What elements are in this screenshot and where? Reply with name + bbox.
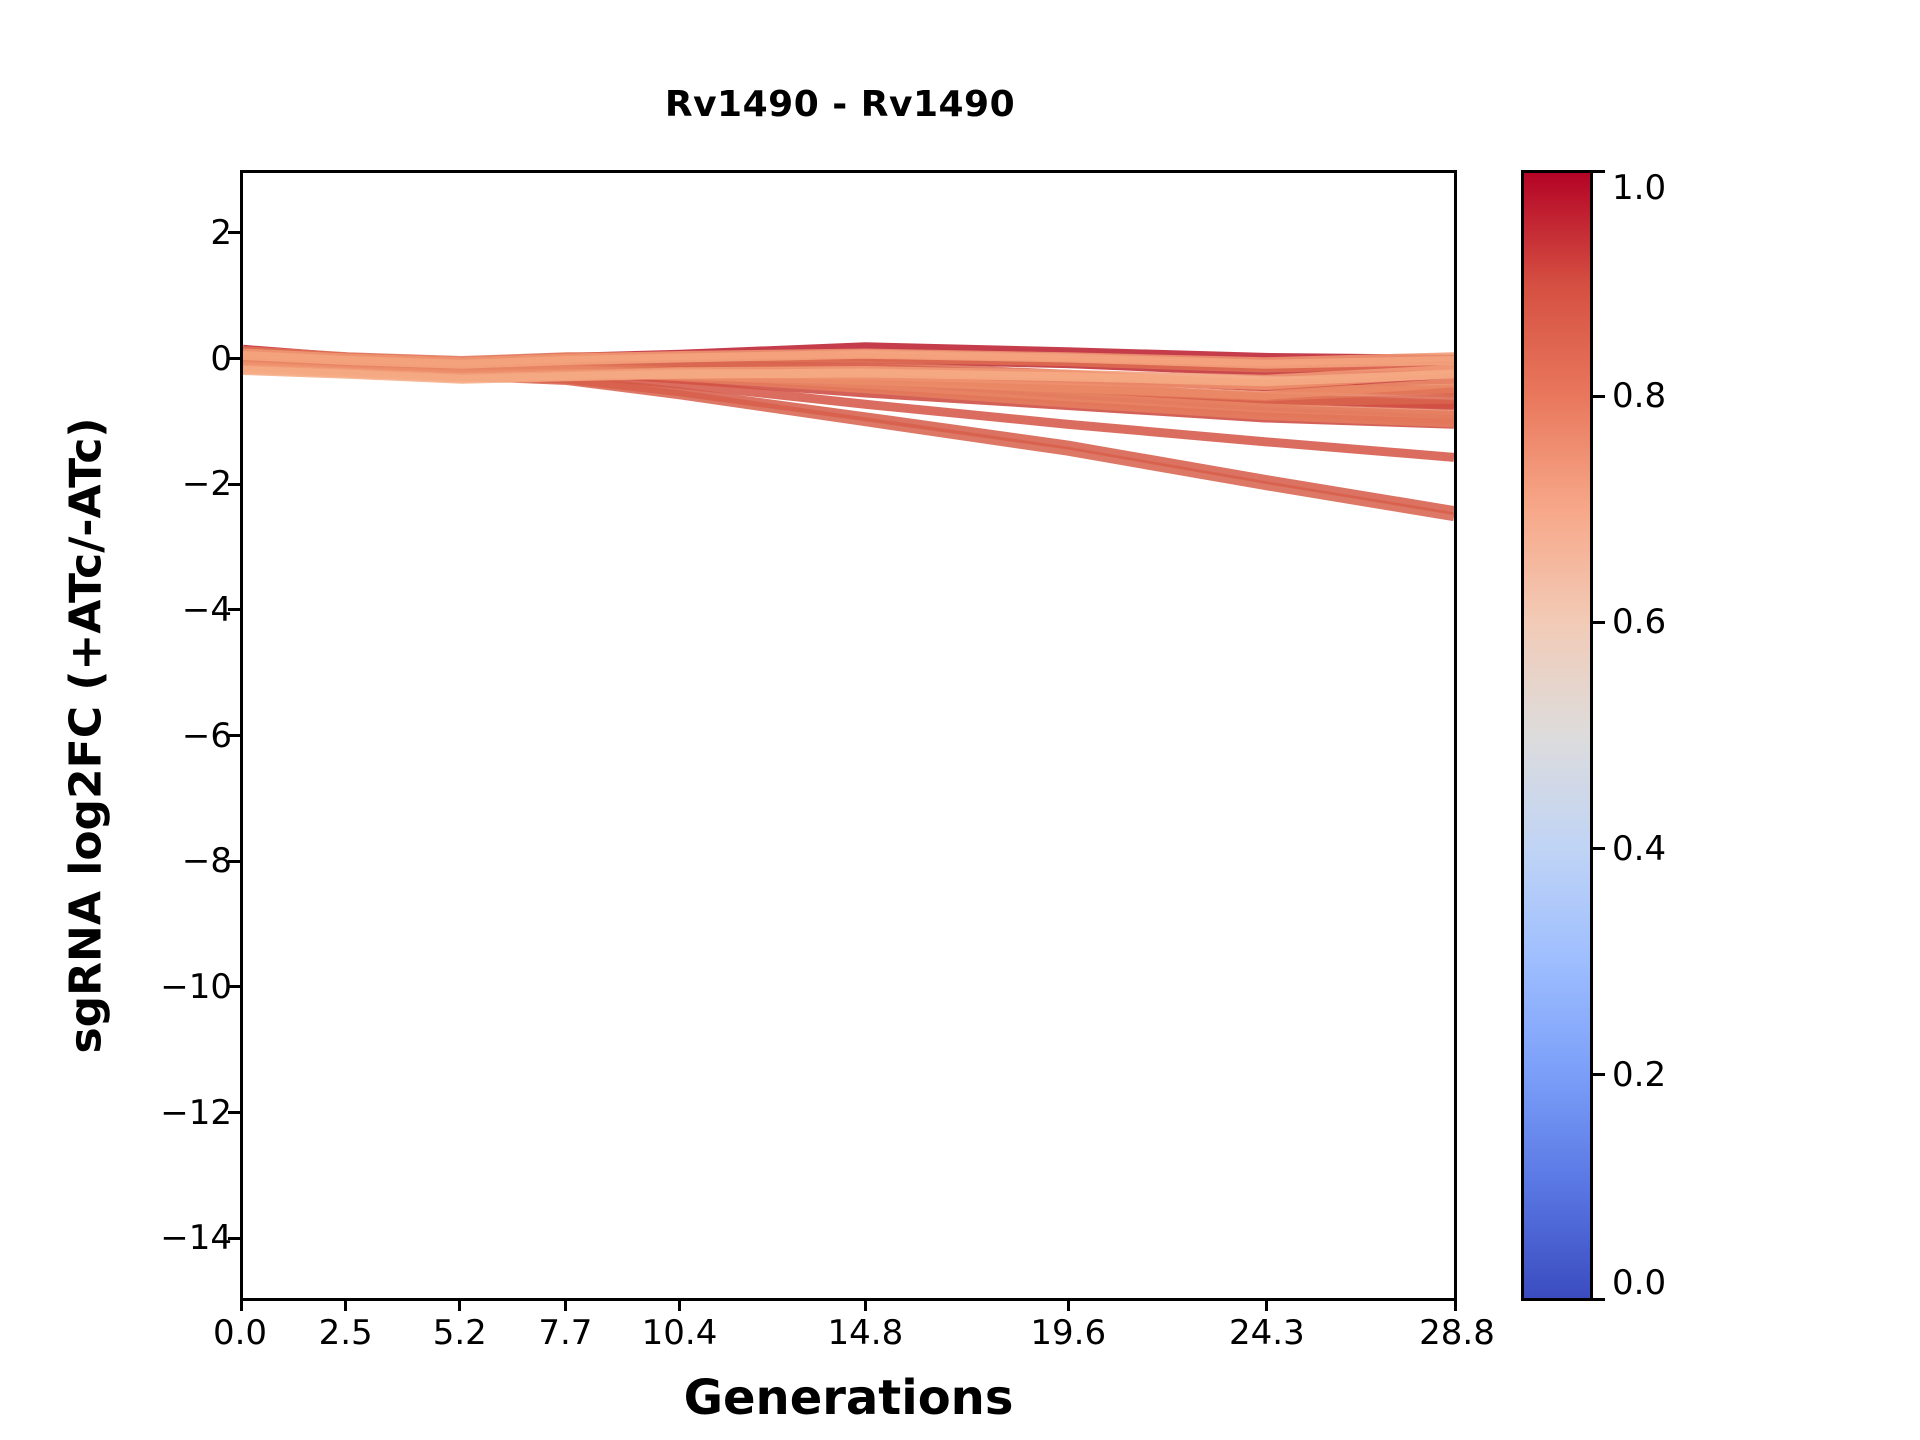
y-tick-mark (228, 357, 240, 360)
y-axis-ticks (228, 170, 242, 1301)
x-axis-label: Generations (240, 1370, 1457, 1426)
x-tick-label: 24.3 (1229, 1316, 1305, 1350)
x-tick-label: 0.0 (213, 1316, 267, 1350)
y-tick-mark (228, 734, 240, 737)
colorbar-tick-label: 0.8 (1612, 379, 1666, 413)
y-tick-mark (228, 1237, 240, 1240)
y-tick-mark (228, 860, 240, 863)
plot-area (240, 170, 1457, 1301)
y-tick-label: −4 (182, 593, 232, 627)
colorbar-tick-mark (1593, 1298, 1605, 1301)
x-tick-label: 2.5 (319, 1316, 373, 1350)
colorbar-gradient (1524, 173, 1590, 1298)
x-tick-mark (1067, 1299, 1070, 1311)
x-tick-label: 14.8 (828, 1316, 904, 1350)
colorbar-tick-label: 0.6 (1612, 605, 1666, 639)
x-axis-tick-labels: 0.02.55.27.710.414.819.624.328.8 (240, 1316, 1457, 1366)
y-tick-label: −2 (182, 467, 232, 501)
y-tick-label: −10 (160, 970, 232, 1004)
x-tick-mark (864, 1299, 867, 1311)
line-series-svg (243, 173, 1454, 1298)
x-tick-label: 7.7 (538, 1316, 592, 1350)
colorbar-tick-mark (1593, 395, 1605, 398)
x-tick-mark (564, 1299, 567, 1311)
figure-canvas: Rv1490 - Rv1490 sgRNA log2FC (+ATc/-ATc)… (0, 0, 1920, 1440)
x-tick-label: 19.6 (1030, 1316, 1106, 1350)
y-tick-mark (228, 231, 240, 234)
y-tick-label: −8 (182, 844, 232, 878)
x-tick-mark (240, 1299, 243, 1311)
x-tick-label: 28.8 (1419, 1316, 1495, 1350)
y-tick-mark (228, 483, 240, 486)
y-tick-label: −14 (160, 1221, 232, 1255)
y-axis-label: sgRNA log2FC (+ATc/-ATc) (58, 170, 114, 1301)
y-tick-label: −12 (160, 1096, 232, 1130)
y-tick-mark (228, 608, 240, 611)
colorbar-ticks (1593, 170, 1607, 1301)
x-tick-mark (1454, 1299, 1457, 1311)
y-tick-label: −6 (182, 719, 232, 753)
chart-title: Rv1490 - Rv1490 (240, 84, 1440, 125)
colorbar-tick-label: 0.0 (1612, 1266, 1666, 1300)
x-tick-mark (1265, 1299, 1268, 1311)
colorbar-tick-label: 0.2 (1612, 1058, 1666, 1092)
colorbar-tick-mark (1593, 847, 1605, 850)
x-tick-label: 10.4 (642, 1316, 718, 1350)
colorbar-tick-labels: 0.00.20.40.60.81.0 (1612, 170, 1772, 1301)
x-tick-mark (678, 1299, 681, 1311)
y-tick-mark (228, 985, 240, 988)
y-axis-label-text: sgRNA log2FC (+ATc/-ATc) (61, 417, 112, 1053)
colorbar-tick-mark (1593, 170, 1605, 173)
y-tick-mark (228, 1111, 240, 1114)
x-tick-mark (458, 1299, 461, 1311)
x-tick-mark (344, 1299, 347, 1311)
colorbar-tick-label: 1.0 (1612, 171, 1666, 205)
y-axis-tick-labels: 20−2−4−6−8−10−12−14 (120, 170, 232, 1301)
colorbar-tick-mark (1593, 621, 1605, 624)
colorbar[interactable] (1521, 170, 1593, 1301)
colorbar-tick-mark (1593, 1073, 1605, 1076)
x-axis-ticks (240, 1299, 1457, 1313)
x-tick-label: 5.2 (433, 1316, 487, 1350)
colorbar-tick-label: 0.4 (1612, 832, 1666, 866)
